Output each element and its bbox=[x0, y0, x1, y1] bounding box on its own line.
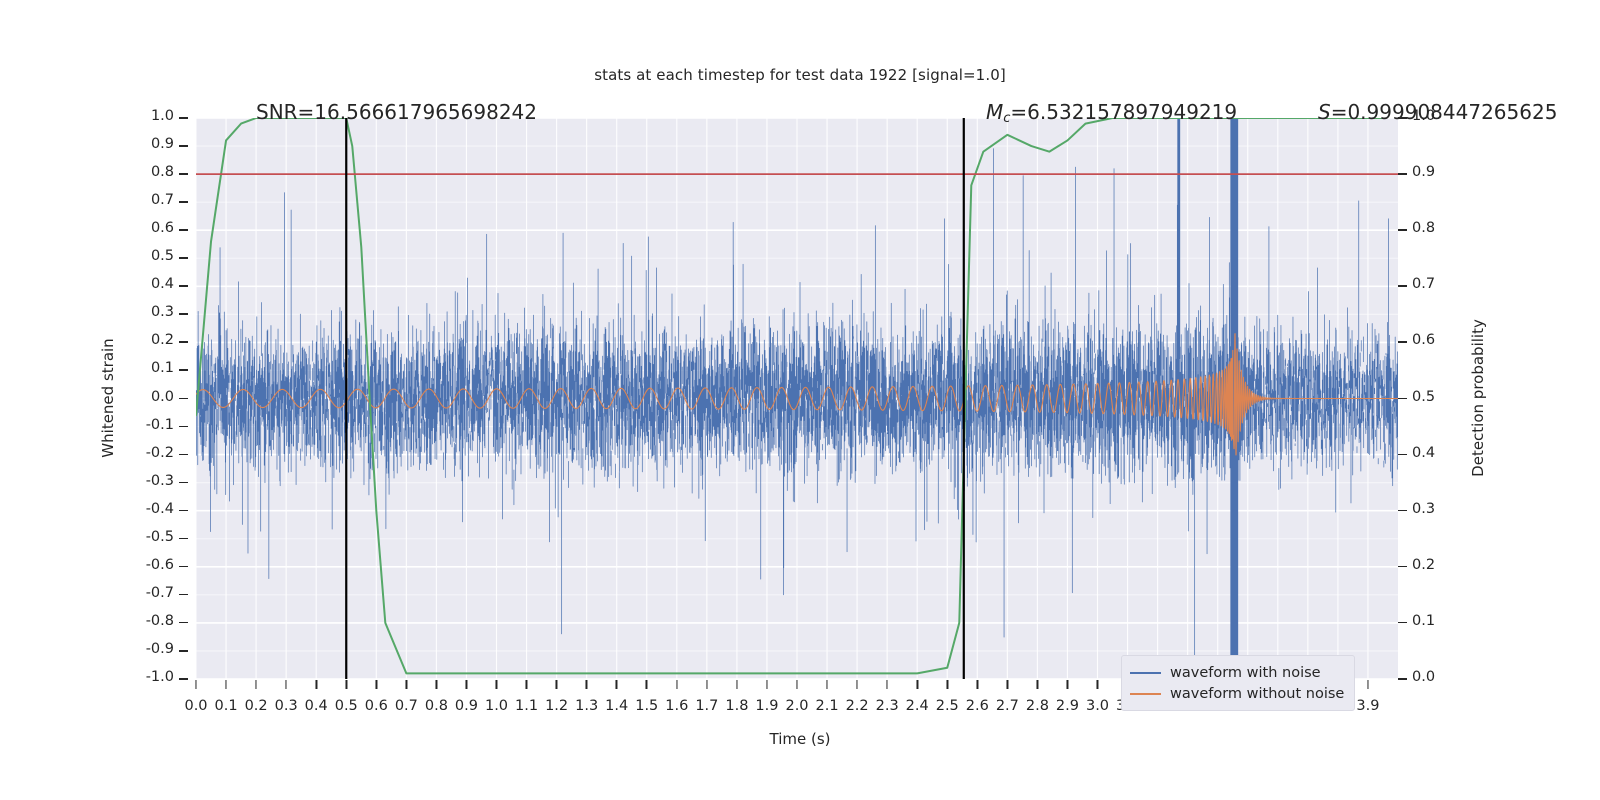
legend-swatch-orange-icon bbox=[1130, 693, 1161, 695]
tick-mark-icon bbox=[436, 680, 438, 689]
tick-mark-icon bbox=[285, 680, 287, 689]
tick-mark-icon bbox=[179, 257, 188, 259]
tick-mark-icon bbox=[616, 680, 618, 689]
tick-mark-icon bbox=[496, 680, 498, 689]
x-tick: 0.7 bbox=[395, 698, 418, 714]
tick-mark-icon bbox=[179, 201, 188, 203]
legend-item-waveform-with-noise[interactable]: waveform with noise bbox=[1130, 662, 1344, 683]
tick-mark-icon bbox=[1398, 566, 1407, 568]
score-symbol: S bbox=[1318, 100, 1331, 124]
x-tick: 1.1 bbox=[515, 698, 538, 714]
tick-mark-icon bbox=[646, 680, 648, 689]
y-tick-right-label: 0.0 bbox=[1412, 669, 1435, 685]
data-layer bbox=[196, 118, 1398, 679]
y-tick-right-label: 0.4 bbox=[1412, 445, 1435, 461]
plot-area bbox=[196, 118, 1398, 679]
tick-mark-icon bbox=[179, 566, 188, 568]
x-tick: 2.3 bbox=[876, 698, 899, 714]
tick-mark-icon bbox=[1097, 680, 1099, 689]
legend-label: waveform with noise bbox=[1170, 665, 1321, 681]
score-value: =0.999908447265625 bbox=[1331, 100, 1558, 124]
tick-mark-icon bbox=[676, 680, 678, 689]
tick-mark-icon bbox=[1398, 678, 1407, 680]
y-tick-left-label: -0.1 bbox=[146, 417, 174, 433]
y-tick-left-label: -0.8 bbox=[146, 613, 174, 629]
tick-mark-icon bbox=[345, 680, 347, 689]
x-tick: 3.0 bbox=[1086, 698, 1109, 714]
x-tick: 0.0 bbox=[184, 698, 207, 714]
tick-mark-icon bbox=[706, 680, 708, 689]
y-axis-right-label: Detection probability bbox=[1469, 319, 1487, 477]
x-tick: 3.9 bbox=[1356, 698, 1379, 714]
figure-canvas: stats at each timestep for test data 192… bbox=[0, 0, 1600, 800]
legend-label: waveform without noise bbox=[1170, 686, 1344, 702]
x-tick: 0.3 bbox=[275, 698, 298, 714]
x-tick: 2.0 bbox=[785, 698, 808, 714]
x-tick: 1.4 bbox=[605, 698, 628, 714]
y-tick-left-label: 0.8 bbox=[151, 164, 174, 180]
tick-mark-icon bbox=[1398, 341, 1407, 343]
tick-mark-icon bbox=[179, 145, 188, 147]
chart-title: stats at each timestep for test data 192… bbox=[0, 66, 1600, 84]
x-tick: 0.1 bbox=[215, 698, 238, 714]
x-tick: 2.9 bbox=[1056, 698, 1079, 714]
x-tick: 1.7 bbox=[695, 698, 718, 714]
legend-item-waveform-without-noise[interactable]: waveform without noise bbox=[1130, 683, 1344, 704]
x-tick: 1.0 bbox=[485, 698, 508, 714]
tick-mark-icon bbox=[1067, 680, 1069, 689]
x-tick: 1.6 bbox=[665, 698, 688, 714]
x-tick: 0.9 bbox=[455, 698, 478, 714]
y-tick-right-label: 0.9 bbox=[1412, 164, 1435, 180]
tick-mark-icon bbox=[376, 680, 378, 689]
tick-mark-icon bbox=[179, 482, 188, 484]
x-tick: 0.5 bbox=[335, 698, 358, 714]
x-tick: 2.2 bbox=[846, 698, 869, 714]
tick-mark-icon bbox=[586, 680, 588, 689]
y-tick-left-label: 0.3 bbox=[151, 304, 174, 320]
tick-mark-icon bbox=[1398, 229, 1407, 231]
x-tick: 1.5 bbox=[635, 698, 658, 714]
tick-mark-icon bbox=[1398, 454, 1407, 456]
y-tick-left-label: -0.4 bbox=[146, 501, 174, 517]
y-tick-left-label: -1.0 bbox=[146, 669, 174, 685]
tick-mark-icon bbox=[179, 229, 188, 231]
tick-mark-icon bbox=[179, 285, 188, 287]
x-tick: 1.2 bbox=[545, 698, 568, 714]
x-tick: 0.2 bbox=[245, 698, 268, 714]
chirp-mass-annotation: Mc=6.532157897949219 bbox=[986, 100, 1237, 126]
tick-mark-icon bbox=[466, 680, 468, 689]
tick-mark-icon bbox=[826, 680, 828, 689]
y-tick-right-label: 0.5 bbox=[1412, 389, 1435, 405]
tick-mark-icon bbox=[406, 680, 408, 689]
tick-mark-icon bbox=[1007, 680, 1009, 689]
tick-mark-icon bbox=[977, 680, 979, 689]
tick-mark-icon bbox=[179, 678, 188, 680]
x-tick: 2.4 bbox=[906, 698, 929, 714]
tick-mark-icon bbox=[1367, 680, 1369, 689]
tick-mark-icon bbox=[916, 680, 918, 689]
tick-mark-icon bbox=[179, 398, 188, 400]
x-tick: 1.3 bbox=[575, 698, 598, 714]
y-tick-left-label: 0.7 bbox=[151, 192, 174, 208]
y-tick-left-label: 1.0 bbox=[151, 108, 174, 124]
x-axis-label: Time (s) bbox=[0, 730, 1600, 748]
tick-mark-icon bbox=[1398, 398, 1407, 400]
y-tick-left-label: 0.9 bbox=[151, 136, 174, 152]
tick-mark-icon bbox=[1037, 680, 1039, 689]
y-tick-left-label: 0.6 bbox=[151, 220, 174, 236]
x-tick: 2.7 bbox=[996, 698, 1019, 714]
tick-mark-icon bbox=[886, 680, 888, 689]
tick-mark-icon bbox=[736, 680, 738, 689]
tick-mark-icon bbox=[179, 173, 188, 175]
chirp-mass-value: =6.532157897949219 bbox=[1010, 100, 1237, 124]
tick-mark-icon bbox=[179, 313, 188, 315]
tick-mark-icon bbox=[179, 454, 188, 456]
tick-mark-icon bbox=[1398, 173, 1407, 175]
y-tick-left-label: -0.2 bbox=[146, 445, 174, 461]
chirp-mass-symbol: M bbox=[986, 100, 1003, 124]
x-tick: 0.4 bbox=[305, 698, 328, 714]
tick-mark-icon bbox=[179, 622, 188, 624]
tick-mark-icon bbox=[179, 538, 188, 540]
y-tick-left-label: 0.0 bbox=[151, 389, 174, 405]
tick-mark-icon bbox=[255, 680, 257, 689]
tick-mark-icon bbox=[179, 369, 188, 371]
x-tick: 1.8 bbox=[725, 698, 748, 714]
tick-mark-icon bbox=[179, 510, 188, 512]
x-tick: 2.5 bbox=[936, 698, 959, 714]
y-tick-right-label: 0.6 bbox=[1412, 332, 1435, 348]
tick-mark-icon bbox=[195, 680, 197, 689]
y-tick-right-label: 0.1 bbox=[1412, 613, 1435, 629]
tick-mark-icon bbox=[1398, 285, 1407, 287]
y-tick-right-label: 0.3 bbox=[1412, 501, 1435, 517]
y-tick-right-label: 0.8 bbox=[1412, 220, 1435, 236]
tick-mark-icon bbox=[1398, 510, 1407, 512]
y-axis-left-label: Whitened strain bbox=[99, 338, 117, 457]
x-tick: 2.8 bbox=[1026, 698, 1049, 714]
tick-mark-icon bbox=[946, 680, 948, 689]
y-tick-left-label: 0.1 bbox=[151, 360, 174, 376]
tick-mark-icon bbox=[179, 594, 188, 596]
y-tick-left-label: 0.4 bbox=[151, 276, 174, 292]
tick-mark-icon bbox=[1398, 622, 1407, 624]
tick-mark-icon bbox=[179, 341, 188, 343]
y-tick-left-label: -0.3 bbox=[146, 473, 174, 489]
y-tick-left-label: 0.2 bbox=[151, 332, 174, 348]
y-tick-left-label: 0.5 bbox=[151, 248, 174, 264]
legend-box: waveform with noise waveform without noi… bbox=[1121, 655, 1355, 711]
tick-mark-icon bbox=[315, 680, 317, 689]
tick-mark-icon bbox=[179, 650, 188, 652]
x-tick: 1.9 bbox=[755, 698, 778, 714]
x-tick: 2.6 bbox=[966, 698, 989, 714]
tick-mark-icon bbox=[179, 117, 188, 119]
x-tick: 2.1 bbox=[816, 698, 839, 714]
legend-swatch-blue-icon bbox=[1130, 672, 1161, 674]
y-tick-left-label: -0.9 bbox=[146, 641, 174, 657]
snr-annotation: SNR=16.566617965698242 bbox=[256, 100, 537, 124]
y-tick-right-label: 0.2 bbox=[1412, 557, 1435, 573]
y-tick-right-label: 0.7 bbox=[1412, 276, 1435, 292]
tick-mark-icon bbox=[556, 680, 558, 689]
tick-mark-icon bbox=[856, 680, 858, 689]
y-tick-left-label: -0.5 bbox=[146, 529, 174, 545]
score-annotation: S=0.999908447265625 bbox=[1318, 100, 1557, 124]
y-tick-left-label: -0.7 bbox=[146, 585, 174, 601]
tick-mark-icon bbox=[766, 680, 768, 689]
y-tick-left-label: -0.6 bbox=[146, 557, 174, 573]
tick-mark-icon bbox=[225, 680, 227, 689]
tick-mark-icon bbox=[526, 680, 528, 689]
x-tick: 0.8 bbox=[425, 698, 448, 714]
tick-mark-icon bbox=[179, 426, 188, 428]
tick-mark-icon bbox=[796, 680, 798, 689]
x-tick: 0.6 bbox=[365, 698, 388, 714]
